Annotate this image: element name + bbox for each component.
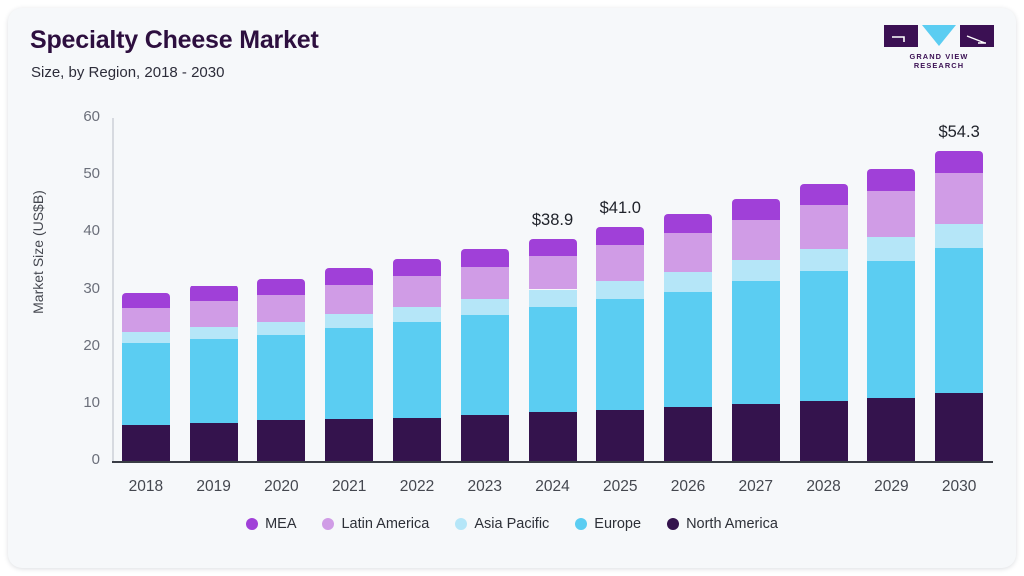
bar-segment-asia-pacific[interactable]	[461, 299, 509, 315]
bar-segment-mea[interactable]	[190, 286, 238, 301]
bar-segment-europe[interactable]	[867, 261, 915, 398]
bar-segment-europe[interactable]	[732, 281, 780, 404]
bar-segment-asia-pacific[interactable]	[867, 237, 915, 260]
x-axis-line	[112, 461, 993, 463]
bar-segment-mea[interactable]	[664, 214, 712, 233]
bar-segment-asia-pacific[interactable]	[325, 314, 373, 328]
bar-segment-mea[interactable]	[596, 227, 644, 245]
bar-segment-latin-america[interactable]	[529, 256, 577, 290]
bar-segment-mea[interactable]	[461, 249, 509, 267]
chart-legend: MEALatin AmericaAsia PacificEuropeNorth …	[8, 516, 1016, 532]
bar-segment-latin-america[interactable]	[732, 220, 780, 261]
bar-segment-asia-pacific[interactable]	[664, 272, 712, 292]
bar-segment-europe[interactable]	[935, 248, 983, 393]
bar-segment-asia-pacific[interactable]	[935, 224, 983, 248]
bar-segment-europe[interactable]	[596, 299, 644, 409]
bar-segment-north-america[interactable]	[732, 404, 780, 461]
bar-segment-mea[interactable]	[122, 293, 170, 308]
bar-segment-mea[interactable]	[800, 184, 848, 205]
bar-segment-north-america[interactable]	[122, 425, 170, 461]
bar-segment-north-america[interactable]	[596, 410, 644, 461]
bar-segment-europe[interactable]	[393, 322, 441, 418]
bar-segment-europe[interactable]	[461, 315, 509, 415]
bar-segment-europe[interactable]	[800, 271, 848, 401]
bar-segment-asia-pacific[interactable]	[257, 322, 305, 335]
bar-segment-north-america[interactable]	[529, 412, 577, 461]
chart-card: Specialty Cheese Market Size, by Region,…	[8, 8, 1016, 568]
bar-segment-latin-america[interactable]	[935, 173, 983, 224]
bar-2027[interactable]	[732, 199, 780, 461]
legend-swatch-icon	[455, 518, 467, 530]
bar-2026[interactable]	[664, 214, 712, 461]
bar-segment-mea[interactable]	[325, 268, 373, 285]
y-axis-tick-label: 40	[66, 222, 100, 239]
bar-segment-latin-america[interactable]	[257, 295, 305, 322]
bar-2019[interactable]	[190, 285, 238, 461]
bar-2024[interactable]	[529, 239, 577, 461]
bar-segment-asia-pacific[interactable]	[190, 327, 238, 338]
bar-segment-latin-america[interactable]	[122, 308, 170, 333]
bar-segment-latin-america[interactable]	[325, 285, 373, 314]
y-axis-line	[112, 118, 114, 461]
legend-label: MEA	[265, 516, 296, 532]
bar-segment-europe[interactable]	[325, 328, 373, 419]
legend-swatch-icon	[246, 518, 258, 530]
bar-segment-mea[interactable]	[529, 239, 577, 256]
legend-label: Asia Pacific	[474, 516, 549, 532]
bar-2025[interactable]	[596, 227, 644, 461]
bar-segment-europe[interactable]	[529, 307, 577, 412]
stacked-bar-chart: Market Size (US$B) 010203040506020182019…	[8, 8, 1016, 568]
bar-segment-asia-pacific[interactable]	[596, 281, 644, 299]
bar-segment-mea[interactable]	[257, 279, 305, 295]
bar-segment-mea[interactable]	[393, 259, 441, 276]
bar-segment-europe[interactable]	[190, 339, 238, 423]
bar-segment-mea[interactable]	[935, 151, 983, 174]
bar-segment-latin-america[interactable]	[867, 191, 915, 238]
bar-segment-north-america[interactable]	[935, 393, 983, 461]
y-axis-tick-label: 0	[66, 451, 100, 468]
bar-segment-north-america[interactable]	[664, 407, 712, 461]
bar-segment-asia-pacific[interactable]	[732, 260, 780, 281]
y-axis-tick-label: 20	[66, 337, 100, 354]
y-axis-tick-label: 10	[66, 394, 100, 411]
bar-segment-north-america[interactable]	[325, 419, 373, 461]
x-axis-tick-label: 2030	[919, 478, 999, 496]
bar-segment-asia-pacific[interactable]	[800, 249, 848, 271]
bar-2030[interactable]	[935, 151, 983, 461]
legend-swatch-icon	[575, 518, 587, 530]
bar-2022[interactable]	[393, 259, 441, 461]
bar-value-label-2025: $41.0	[575, 199, 665, 218]
bar-2029[interactable]	[867, 169, 915, 461]
bar-segment-latin-america[interactable]	[800, 205, 848, 248]
bar-segment-north-america[interactable]	[800, 401, 848, 461]
bar-segment-latin-america[interactable]	[461, 267, 509, 299]
bar-2023[interactable]	[461, 249, 509, 461]
legend-swatch-icon	[322, 518, 334, 530]
bar-segment-mea[interactable]	[867, 169, 915, 191]
bar-segment-asia-pacific[interactable]	[122, 332, 170, 342]
bar-segment-latin-america[interactable]	[393, 276, 441, 306]
bar-value-label-2030: $54.3	[914, 123, 1004, 142]
bar-2020[interactable]	[257, 279, 305, 461]
bar-segment-asia-pacific[interactable]	[393, 307, 441, 322]
bar-segment-latin-america[interactable]	[664, 233, 712, 271]
bar-segment-mea[interactable]	[732, 199, 780, 220]
legend-item-europe[interactable]: Europe	[575, 516, 641, 532]
bar-segment-latin-america[interactable]	[596, 245, 644, 281]
bar-segment-europe[interactable]	[257, 335, 305, 421]
bar-2021[interactable]	[325, 268, 373, 461]
bar-segment-north-america[interactable]	[393, 418, 441, 461]
bar-2018[interactable]	[122, 293, 170, 461]
legend-item-asia-pacific[interactable]: Asia Pacific	[455, 516, 549, 532]
legend-label: North America	[686, 516, 778, 532]
y-axis-label: Market Size (US$B)	[30, 162, 46, 342]
bar-segment-europe[interactable]	[664, 292, 712, 407]
bar-2028[interactable]	[800, 184, 848, 461]
legend-swatch-icon	[667, 518, 679, 530]
bar-segment-north-america[interactable]	[190, 423, 238, 461]
bar-segment-north-america[interactable]	[257, 420, 305, 461]
bar-segment-europe[interactable]	[122, 343, 170, 425]
bar-segment-north-america[interactable]	[867, 398, 915, 461]
y-axis-tick-label: 30	[66, 280, 100, 297]
bar-segment-asia-pacific[interactable]	[529, 290, 577, 307]
legend-item-mea[interactable]: MEA	[246, 516, 296, 532]
bar-segment-north-america[interactable]	[461, 415, 509, 461]
legend-item-north-america[interactable]: North America	[667, 516, 778, 532]
bar-segment-latin-america[interactable]	[190, 301, 238, 327]
y-axis-tick-label: 60	[66, 108, 100, 125]
legend-item-latin-america[interactable]: Latin America	[322, 516, 429, 532]
legend-label: Europe	[594, 516, 641, 532]
y-axis-tick-label: 50	[66, 165, 100, 182]
legend-label: Latin America	[341, 516, 429, 532]
